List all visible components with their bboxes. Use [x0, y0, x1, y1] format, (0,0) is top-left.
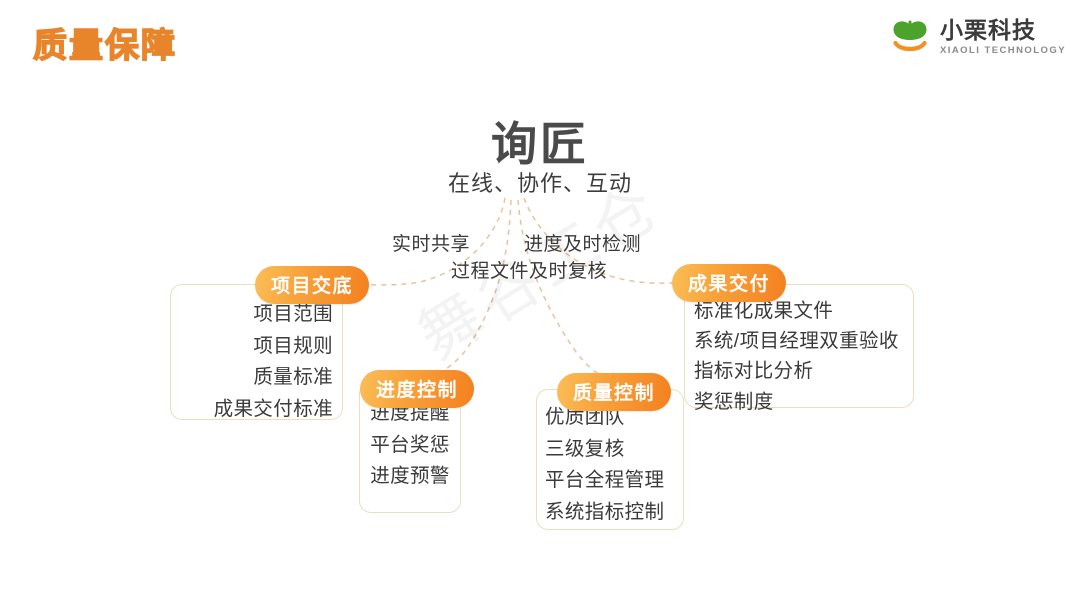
- list-item: 指标对比分析: [694, 356, 899, 386]
- list-item: 奖惩制度: [694, 387, 899, 417]
- card-label-progress-control[interactable]: 进度控制: [360, 370, 474, 408]
- list-item: 质量标准: [214, 362, 333, 394]
- list-item: 平台全程管理: [545, 465, 664, 497]
- logo-name-en: XIAOLI TECHNOLOGY: [940, 46, 1066, 56]
- card-item-list: 项目范围 项目规则 质量标准 成果交付标准: [214, 299, 333, 425]
- card-label-quality-control[interactable]: 质量控制: [557, 373, 671, 411]
- list-item: 三级复核: [545, 434, 664, 466]
- card-label-deliverable-handover[interactable]: 成果交付: [672, 264, 786, 302]
- logo-name-cn: 小栗科技: [940, 19, 1066, 42]
- list-item: 成果交付标准: [214, 394, 333, 426]
- brand-logo: 小栗科技 XIAOLI TECHNOLOGY: [889, 16, 1066, 58]
- list-item: 项目规则: [214, 331, 333, 363]
- slide-canvas: 质量保障 小栗科技 XIAOLI TECHNOLOGY 询匠 在线、协作、互动: [0, 0, 1080, 608]
- list-item: 系统/项目经理双重验收: [694, 326, 899, 356]
- list-item: 进度预警: [360, 461, 460, 493]
- card-item-list: 优质团队 三级复核 平台全程管理 系统指标控制: [545, 402, 664, 528]
- card-deliverable-handover[interactable]: 标准化成果文件 系统/项目经理双重验收 指标对比分析 奖惩制度: [684, 284, 914, 408]
- card-project-briefing[interactable]: 项目范围 项目规则 质量标准 成果交付标准: [170, 284, 343, 420]
- caption-progress-check: 进度及时检测: [524, 229, 641, 256]
- card-label-project-briefing[interactable]: 项目交底: [255, 266, 369, 304]
- caption-realtime-share: 实时共享: [392, 229, 470, 256]
- caption-doc-review: 过程文件及时复核: [451, 256, 607, 283]
- logo-text: 小栗科技 XIAOLI TECHNOLOGY: [940, 19, 1066, 56]
- list-item: 平台奖惩: [360, 430, 460, 462]
- card-item-list: 标准化成果文件 系统/项目经理双重验收 指标对比分析 奖惩制度: [694, 296, 899, 417]
- center-title: 询匠: [0, 108, 1080, 174]
- page-title: 质量保障: [33, 18, 177, 67]
- card-item-list: 进度提醒 平台奖惩 进度预警: [360, 398, 460, 493]
- list-item: 系统指标控制: [545, 497, 664, 529]
- center-subtitle: 在线、协作、互动: [0, 166, 1080, 198]
- chestnut-leaf-icon: [889, 16, 931, 58]
